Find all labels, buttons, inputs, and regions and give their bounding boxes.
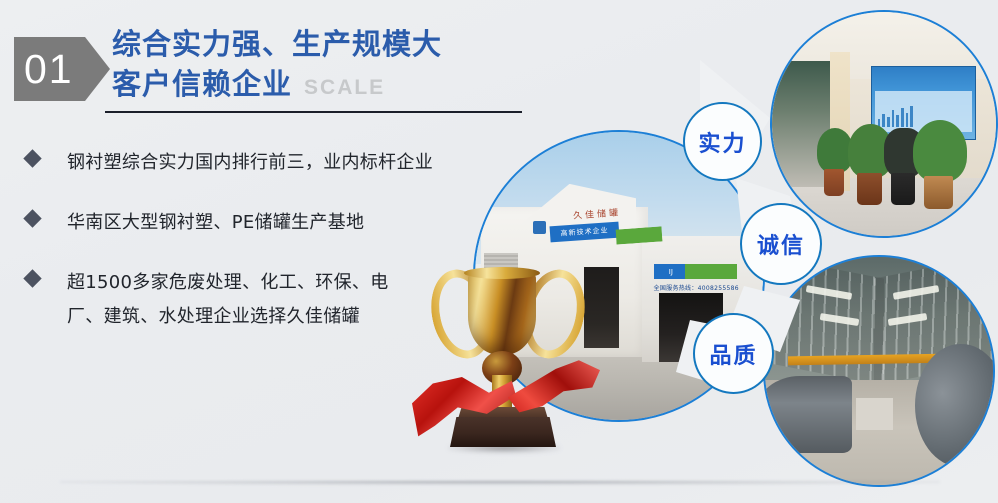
list-item-line: 超1500多家危废处理、化工、环保、电 [67,266,389,300]
section-number-badge: 01 [14,37,110,101]
far-wall [856,398,892,430]
badge-strength-label: 实力 [698,126,746,158]
section-header: 01 综合实力强、生产规模大 客户信赖企业 SCALE [0,0,560,130]
plant-pot-1 [824,169,844,196]
badge-integrity[interactable]: 诚信 [740,203,822,285]
list-item-text: 钢衬塑综合实力国内排行前三，业内标杆企业 [67,146,433,180]
info-board-bar-chart [878,106,913,128]
office-lobby-photo [770,10,998,238]
section-title-english: SCALE [304,68,385,108]
list-item-line: 华南区大型钢衬塑、PE储罐生产基地 [67,206,364,240]
trophy-base [450,417,556,447]
factory-banner2-blue: IJ [654,264,689,278]
trophy-cup [468,271,536,355]
list-item: 华南区大型钢衬塑、PE储罐生产基地 [0,206,470,240]
list-item-line: 厂、建筑、水处理企业选择久佳储罐 [67,300,389,334]
promo-banner: 久佳储罐 高新技术企业 IJ 全国服务热线：4008255586 [0,0,998,503]
plant-4 [913,120,967,183]
section-title: 综合实力强、生产规模大 客户信赖企业 SCALE [112,24,442,108]
section-number-text: 01 [14,49,74,90]
storage-tank-right [915,344,995,467]
list-item: 超1500多家危废处理、化工、环保、电 厂、建筑、水处理企业选择久佳储罐 [0,266,470,334]
title-divider [105,111,522,113]
diamond-bullet-icon [23,269,41,287]
badge-integrity-label: 诚信 [757,228,805,260]
badge-quality-label: 品质 [709,338,757,370]
list-item: 钢衬塑综合实力国内排行前三，业内标杆企业 [0,146,470,180]
factory-banner2-green [685,264,737,278]
plant-pot-3 [891,173,916,204]
bottom-shelf-shadow [60,481,940,485]
company-logo-mark [533,221,546,234]
trophy-rim [464,267,540,279]
diamond-bullet-icon [23,209,41,227]
section-title-line2: 客户信赖企业 [112,64,292,104]
list-item-line: 钢衬塑综合实力国内排行前三，业内标杆企业 [67,146,433,180]
factory-hotline-text: 全国服务热线：4008255586 [654,283,740,292]
plant-pot-2 [857,173,882,204]
badge-strength[interactable]: 实力 [683,102,762,181]
feature-list: 钢衬塑综合实力国内排行前三，业内标杆企业 华南区大型钢衬塑、PE储罐生产基地 超… [0,146,470,360]
list-item-text: 超1500多家危废处理、化工、环保、电 厂、建筑、水处理企业选择久佳储罐 [67,266,389,334]
storage-tank-left [763,376,852,454]
plant-pot-4 [924,176,953,210]
list-item-text: 华南区大型钢衬塑、PE储罐生产基地 [67,206,364,240]
section-title-line1: 综合实力强、生产规模大 [112,24,442,64]
warehouse-tanks-photo [763,255,995,487]
diamond-bullet-icon [23,149,41,167]
badge-quality[interactable]: 品质 [693,313,774,394]
